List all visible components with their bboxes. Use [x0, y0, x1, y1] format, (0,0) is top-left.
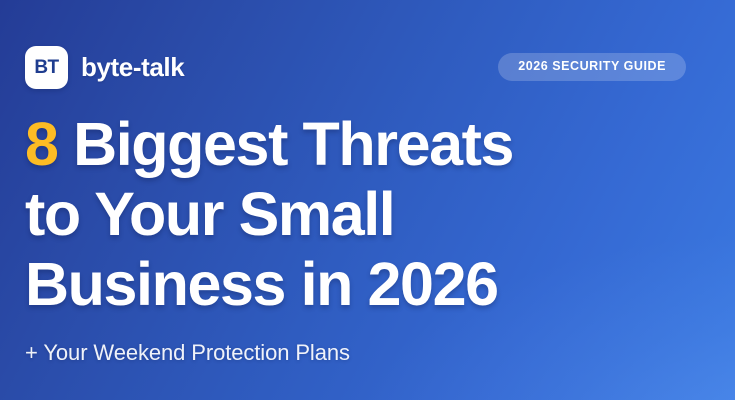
banner-content: BT byte-talk 2026 SECURITY GUIDE 8 Bigge…: [0, 0, 735, 400]
headline-line-1-text: Biggest Threats: [73, 110, 513, 178]
headline-line-3: Business in 2026: [25, 249, 710, 319]
promo-banner: BT byte-talk 2026 SECURITY GUIDE 8 Bigge…: [0, 0, 735, 400]
brand-name-text: byte-talk: [81, 54, 184, 80]
brand-lockup[interactable]: BT byte-talk: [25, 46, 184, 89]
headline-line-2: to Your Small: [25, 179, 710, 249]
page-subtitle: + Your Weekend Protection Plans: [25, 340, 710, 366]
byte-talk-logo-icon: BT: [25, 46, 68, 89]
banner-header: BT byte-talk 2026 SECURITY GUIDE: [25, 44, 710, 90]
page-title: 8 Biggest Threats to Your Small Business…: [25, 109, 710, 319]
logo-monogram-text: BT: [34, 58, 58, 77]
headline-accent-number: 8: [25, 110, 58, 178]
headline-line-1: 8 Biggest Threats: [25, 109, 710, 179]
status-badge: 2026 SECURITY GUIDE: [498, 53, 686, 81]
